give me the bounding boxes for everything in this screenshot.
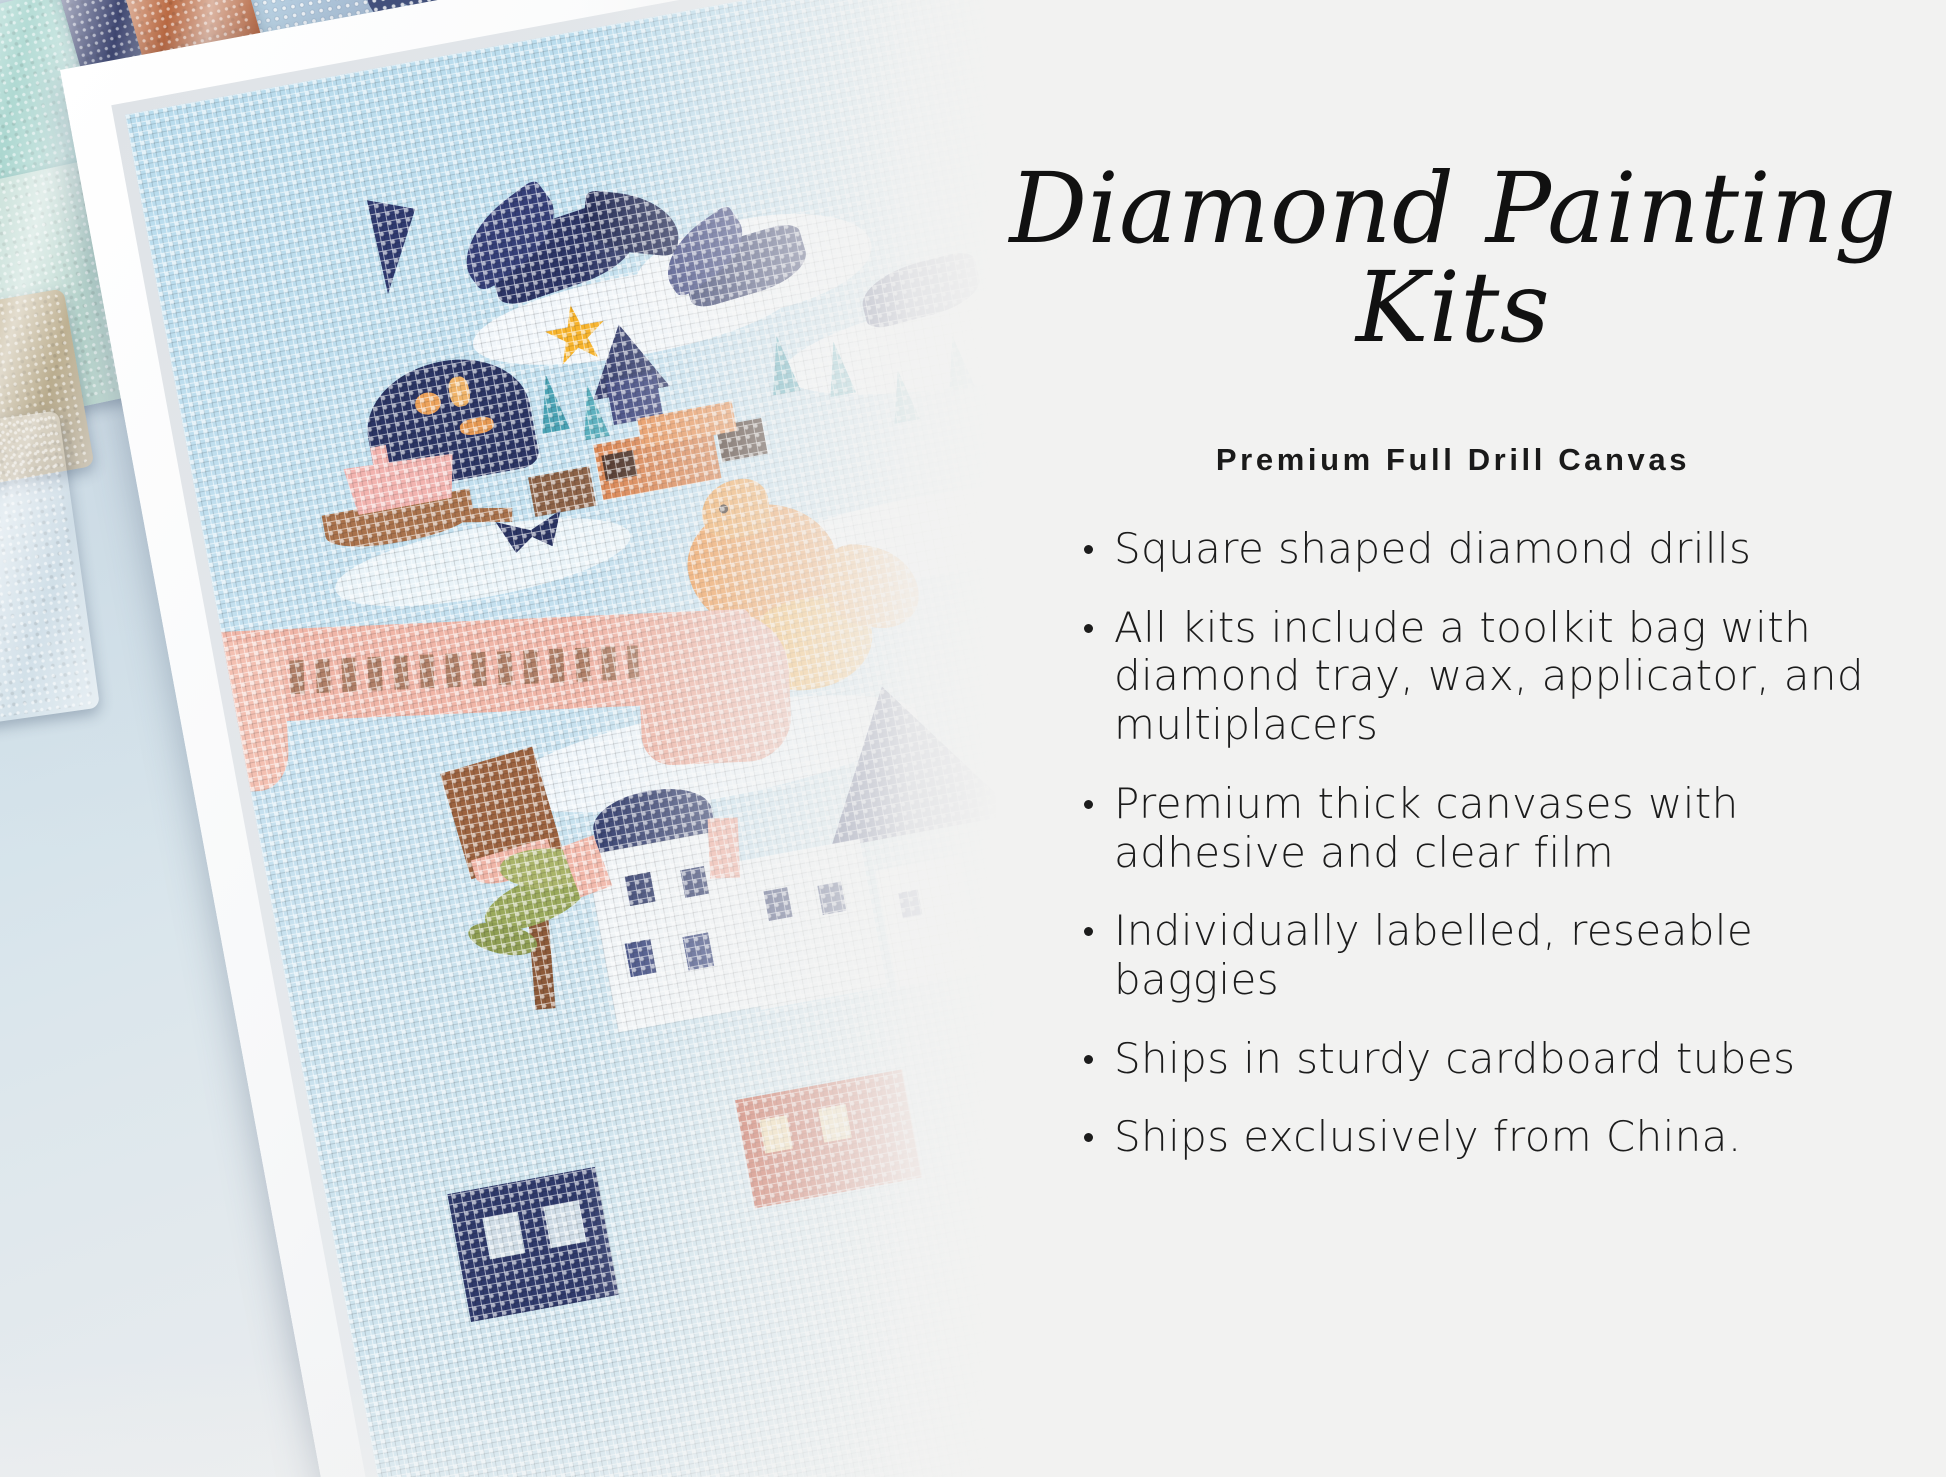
list-item: Ships in sturdy cardboard tubes: [1078, 1035, 1878, 1084]
info-panel: Diamond Painting Kits Premium Full Drill…: [1000, 0, 1946, 1477]
page-title: Diamond Painting Kits: [960, 160, 1946, 358]
product-photo: [0, 0, 1000, 1477]
list-item: Premium thick canvases with adhesive and…: [1078, 780, 1878, 877]
list-item: Square shaped diamond drills: [1078, 525, 1878, 574]
feature-list: Square shaped diamond drills All kits in…: [1078, 525, 1878, 1192]
list-item: All kits include a toolkit bag with diam…: [1078, 604, 1878, 750]
list-item: Ships exclusively from China.: [1078, 1113, 1878, 1162]
promotional-graphic: Diamond Painting Kits Premium Full Drill…: [0, 0, 1946, 1477]
list-item: Individually labelled, reseable baggies: [1078, 907, 1878, 1004]
photo-bottom-fade: [0, 1357, 1000, 1477]
subtitle: Premium Full Drill Canvas: [960, 442, 1946, 478]
photo-right-fade: [580, 0, 1000, 1477]
